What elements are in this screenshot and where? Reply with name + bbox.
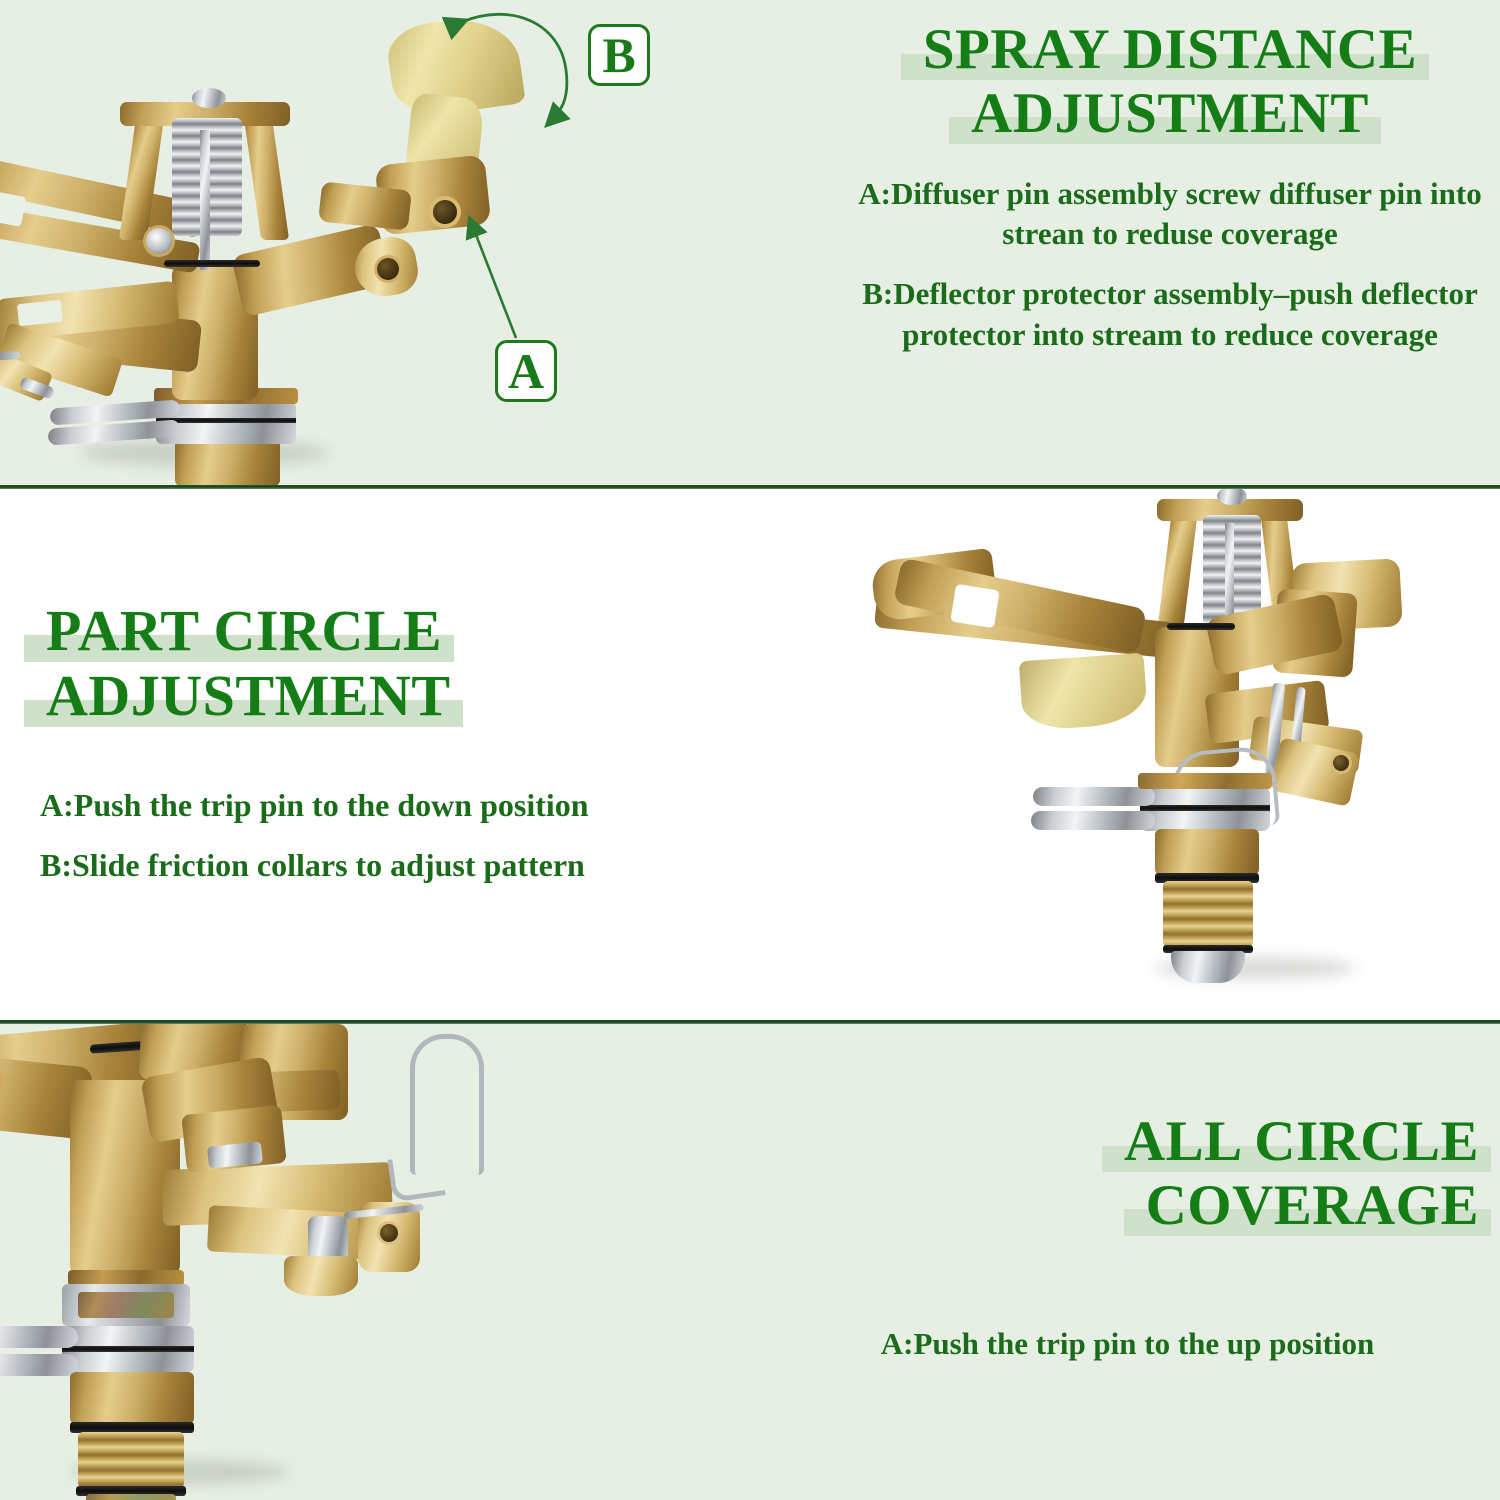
product-image-part-circle [855,489,1455,1007]
spray-distance-title: SPRAY DISTANCE ADJUSTMENT [845,18,1495,146]
panel-all-circle: A ALL CIRCLE COVERAGE A:Push the trip pi… [0,1024,1500,1500]
part-circle-text-block: PART CIRCLE ADJUSTMENT A:Push the trip p… [40,599,700,886]
title-line-2: ADJUSTMENT [46,663,451,728]
instruction-a: A:Push the trip pin to the down position [40,785,700,825]
instruction-a: A:Diffuser pin assembly screw diffuser p… [845,174,1495,255]
callout-badge-label: A [508,342,544,400]
title-line-1: SPRAY DISTANCE [923,18,1417,81]
title-line-1: ALL CIRCLE [1124,1110,1479,1173]
panel-spray-distance: A B SPRAY DISTANCE ADJUSTMENT A:Diffuser… [0,0,1500,485]
spray-distance-text-block: SPRAY DISTANCE ADJUSTMENT A:Diffuser pin… [845,18,1495,355]
all-circle-body: A:Push the trip pin to the up position [770,1324,1485,1364]
part-circle-body: A:Push the trip pin to the down position… [40,785,700,886]
product-image-all-circle [0,1024,620,1500]
spray-distance-body: A:Diffuser pin assembly screw diffuser p… [845,174,1495,355]
all-circle-text-block: ALL CIRCLE COVERAGE A:Push the trip pin … [770,1110,1485,1364]
instruction-a: A:Push the trip pin to the up position [770,1324,1485,1364]
instruction-b: B:Deflector protector assembly–push defl… [845,274,1495,355]
title-line-2: ADJUSTMENT [971,82,1369,145]
infographic-page: A B SPRAY DISTANCE ADJUSTMENT A:Diffuser… [0,0,1500,1500]
title-line-2: COVERAGE [1146,1174,1479,1237]
callout-badge-label: B [602,26,635,84]
product-image-spray-distance [0,10,520,480]
panel-part-circle: PART CIRCLE ADJUSTMENT A:Push the trip p… [0,489,1500,1020]
instruction-b: B:Slide friction collars to adjust patte… [40,845,700,885]
title-line-1: PART CIRCLE [46,598,442,663]
part-circle-title: PART CIRCLE ADJUSTMENT [40,599,700,729]
callout-badge-a-spray[interactable]: A [495,340,557,402]
all-circle-title: ALL CIRCLE COVERAGE [770,1110,1485,1238]
callout-badge-b-spray[interactable]: B [588,24,650,86]
